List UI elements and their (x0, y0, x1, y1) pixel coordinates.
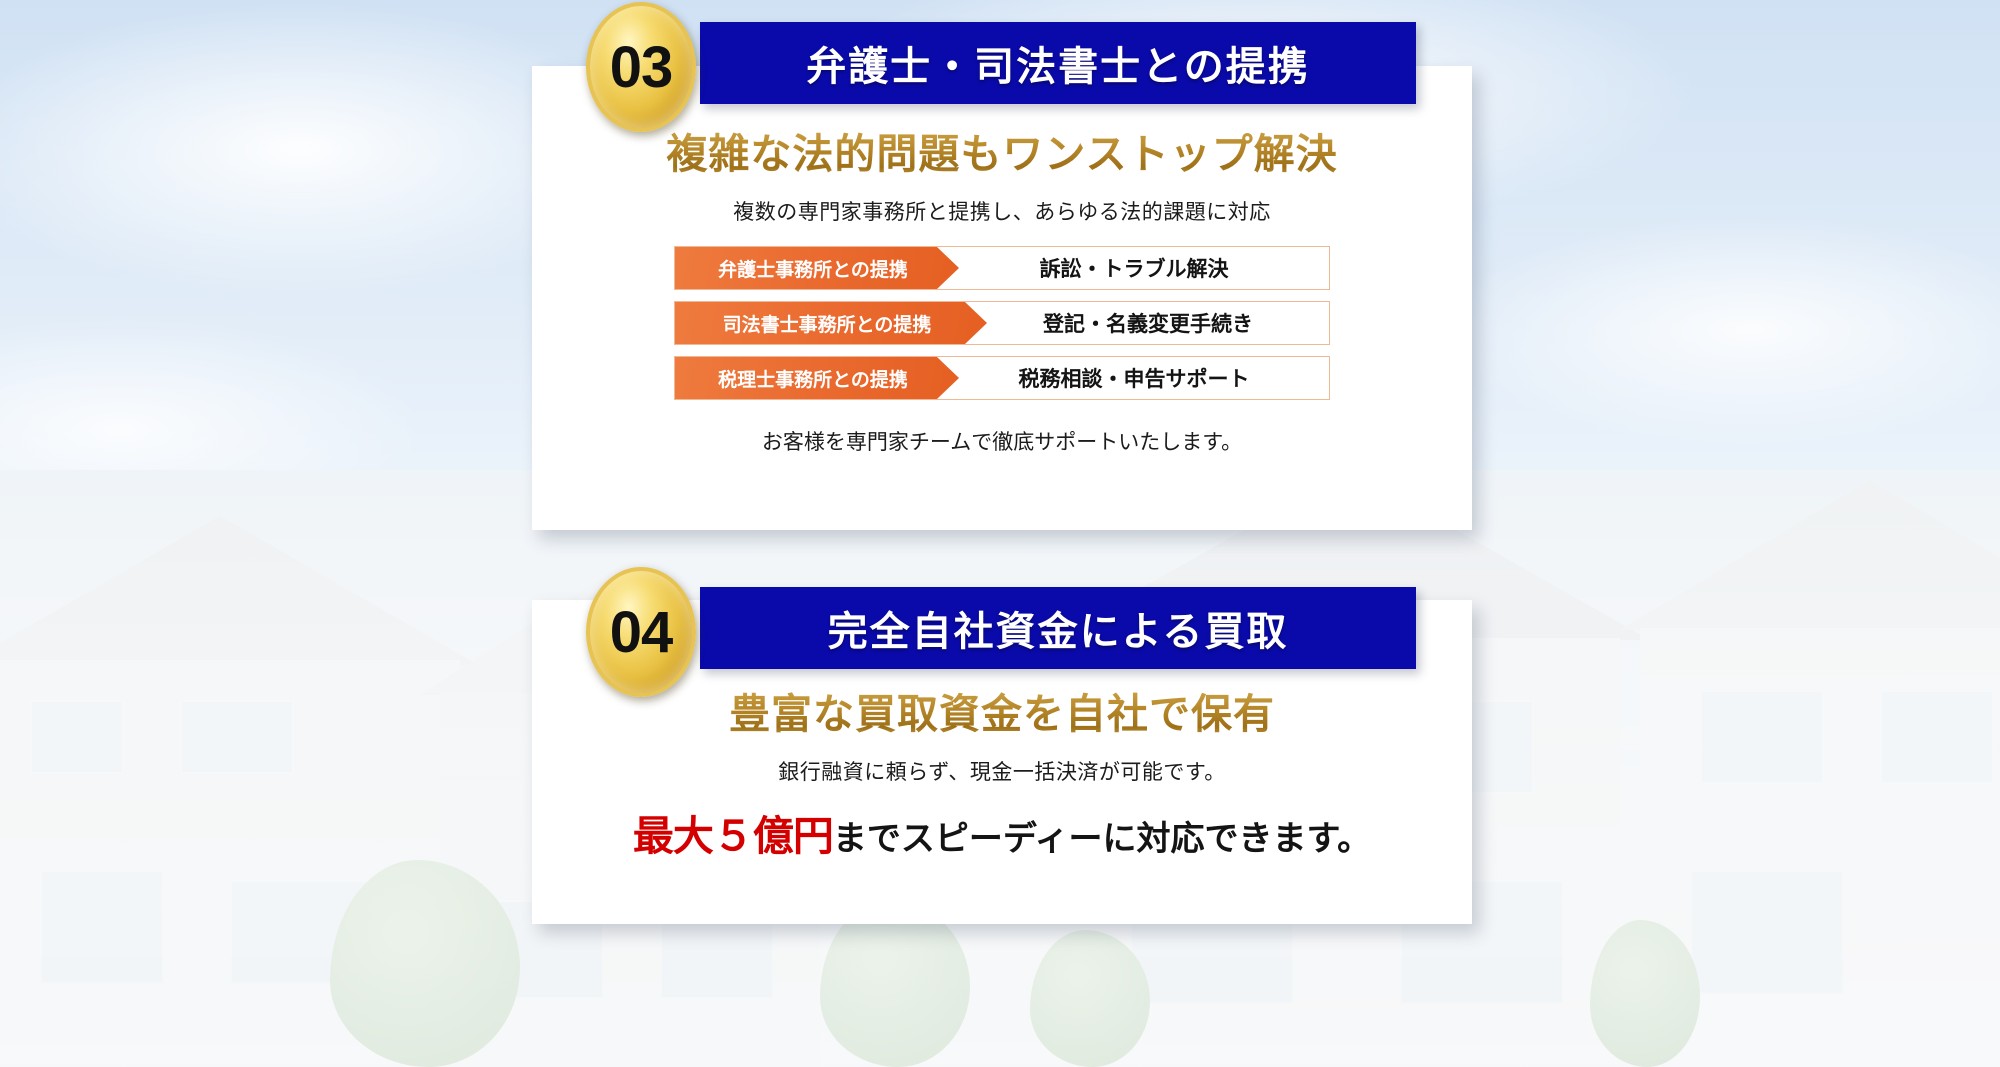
card-03-lead: 複数の専門家事務所と提携し、あらゆる法的課題に対応 (532, 196, 1472, 226)
partner-service: 訴訟・トラブル解決 (959, 247, 1329, 289)
card-04-highlight-line: 最大５億円までスピーディーに対応できます。 (532, 802, 1472, 862)
partner-tag: 税理士事務所との提携 (675, 357, 959, 399)
card-04-number: 04 (610, 599, 673, 666)
card-03-number-badge: 03 (586, 2, 696, 132)
card-03-body: 複雑な法的問題もワンストップ解決 複数の専門家事務所と提携し、あらゆる法的課題に… (532, 120, 1472, 456)
card-04-number-badge: 04 (586, 567, 696, 697)
card-03-number: 03 (610, 34, 673, 101)
partner-service: 税務相談・申告サポート (959, 357, 1329, 399)
card-04-title: 完全自社資金による買取 (828, 599, 1289, 657)
card-04-subtitle: 豊富な買取資金を自社で保有 (532, 680, 1472, 740)
card-04-body: 豊富な買取資金を自社で保有 銀行融資に頼らず、現金一括決済が可能です。 最大５億… (532, 680, 1472, 862)
list-item[interactable]: 弁護士事務所との提携 訴訟・トラブル解決 (674, 246, 1330, 290)
list-item[interactable]: 税理士事務所との提携 税務相談・申告サポート (674, 356, 1330, 400)
partnership-row-list: 弁護士事務所との提携 訴訟・トラブル解決 司法書士事務所との提携 登記・名義変更… (532, 246, 1472, 400)
partner-tag: 司法書士事務所との提携 (675, 302, 987, 344)
card-04-lead: 銀行融資に頼らず、現金一括決済が可能です。 (532, 756, 1472, 786)
card-03-subtitle: 複雑な法的問題もワンストップ解決 (532, 120, 1472, 180)
card-04-header-bar: 完全自社資金による買取 (700, 587, 1416, 669)
list-item[interactable]: 司法書士事務所との提携 登記・名義変更手続き (674, 301, 1330, 345)
card-03-title: 弁護士・司法書士との提携 (806, 34, 1310, 92)
card-03-footnote: お客様を専門家チームで徹底サポートいたします。 (532, 426, 1472, 456)
card-03-header-bar: 弁護士・司法書士との提携 (700, 22, 1416, 104)
partner-service: 登記・名義変更手続き (987, 302, 1329, 344)
max-amount-tail: までスピーディーに対応できます。 (833, 819, 1371, 859)
max-amount-highlight: 最大５億円 (633, 812, 833, 860)
partner-tag: 弁護士事務所との提携 (675, 247, 959, 289)
